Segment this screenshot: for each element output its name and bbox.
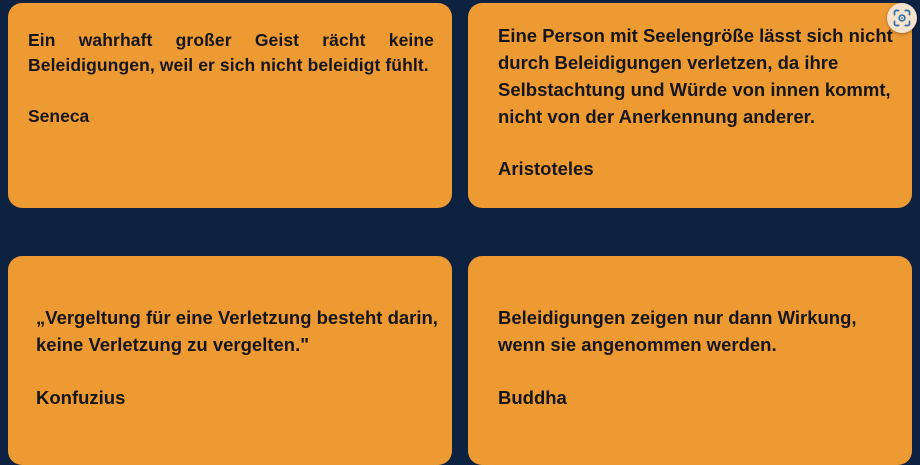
scan-badge-button[interactable] [887, 3, 917, 33]
quote-card-seneca[interactable]: Ein wahrhaft großer Geist rächt keine Be… [8, 3, 452, 208]
quote-card-content: „Vergeltung für eine Verletzung besteht … [8, 256, 452, 411]
quote-text: „Vergeltung für eine Verletzung besteht … [36, 304, 438, 358]
quote-text: Ein wahrhaft großer Geist rächt keine Be… [28, 28, 434, 78]
quote-author: Konfuzius [36, 358, 438, 411]
quote-author: Buddha [498, 358, 898, 411]
quote-text: Beleidigungen zeigen nur dann Wirkung, w… [498, 304, 898, 358]
quote-card-content: Beleidigungen zeigen nur dann Wirkung, w… [468, 256, 912, 411]
quote-card-buddha[interactable]: Beleidigungen zeigen nur dann Wirkung, w… [468, 256, 912, 465]
quote-card-content: Eine Person mit Seelengröße lässt sich n… [468, 3, 912, 182]
quote-text: Eine Person mit Seelengröße lässt sich n… [498, 22, 898, 130]
quote-card-aristoteles[interactable]: Eine Person mit Seelengröße lässt sich n… [468, 3, 912, 208]
quote-card-content: Ein wahrhaft großer Geist rächt keine Be… [8, 3, 452, 129]
quote-author: Aristoteles [498, 130, 898, 182]
scan-focus-icon [892, 8, 912, 28]
quote-card-grid: Ein wahrhaft großer Geist rächt keine Be… [0, 0, 920, 465]
quote-card-konfuzius[interactable]: „Vergeltung für eine Verletzung besteht … [8, 256, 452, 465]
quote-author: Seneca [28, 78, 434, 129]
